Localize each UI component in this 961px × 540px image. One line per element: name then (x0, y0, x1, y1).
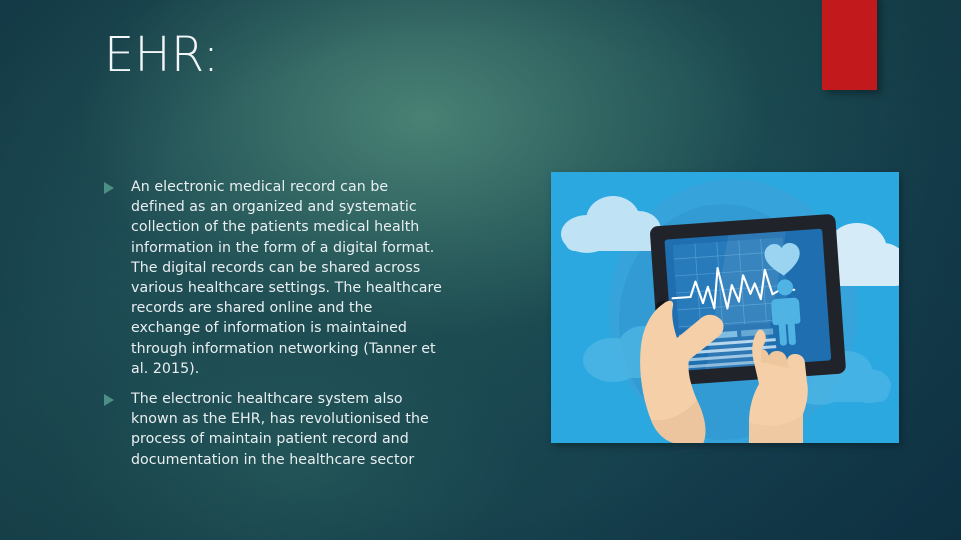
list-item: An electronic medical record can be defi… (100, 176, 445, 378)
triangle-bullet-icon (104, 394, 114, 406)
bullet-text: An electronic medical record can be defi… (131, 179, 442, 377)
bullet-text: The electronic healthcare system also kn… (131, 391, 429, 468)
ehr-tablet-illustration (551, 172, 899, 443)
list-item: The electronic healthcare system also kn… (100, 388, 445, 469)
slide-title: EHR: (104, 27, 219, 83)
illustration-svg (551, 172, 899, 443)
red-accent-bar (822, 0, 877, 90)
slide-canvas: EHR: An electronic medical record can be… (0, 0, 961, 540)
triangle-bullet-icon (104, 182, 114, 194)
bullet-list: An electronic medical record can be defi… (100, 176, 445, 479)
